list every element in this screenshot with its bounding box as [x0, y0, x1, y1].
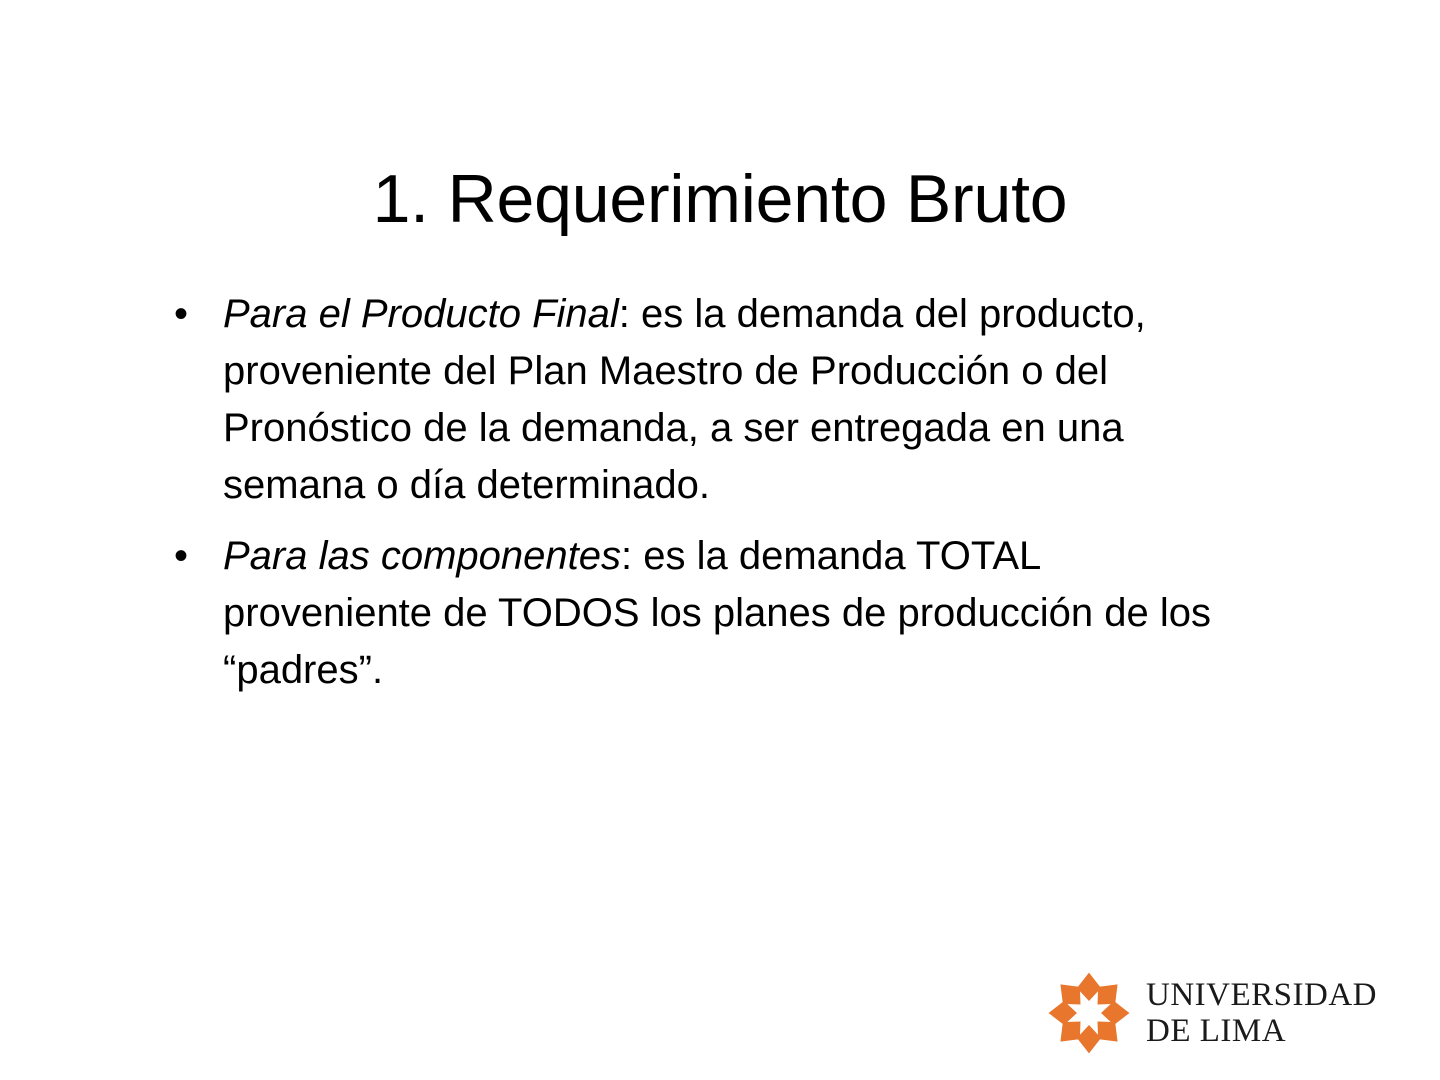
bullet-list: • Para el Producto Final: es la demanda …	[160, 286, 1250, 699]
page-title: 1. Requerimiento Bruto	[0, 164, 1440, 235]
slide-canvas: 1. Requerimiento Bruto • Para el Product…	[0, 0, 1440, 1080]
bullet-marker-icon: •	[174, 286, 202, 343]
list-item-text: Para el Producto Final: es la demanda de…	[223, 286, 1250, 514]
list-item-emphasis: Para las componentes	[223, 534, 621, 578]
list-item-emphasis: Para el Producto Final	[223, 292, 619, 336]
star-rosette-icon	[1046, 970, 1132, 1056]
logo-wordmark: UNIVERSIDAD DE LIMA	[1146, 977, 1377, 1049]
logo-line-1: UNIVERSIDAD	[1146, 977, 1377, 1013]
list-item-text: Para las componentes: es la demanda TOTA…	[223, 528, 1250, 699]
universidad-de-lima-logo: UNIVERSIDAD DE LIMA	[1046, 970, 1396, 1056]
list-item: • Para las componentes: es la demanda TO…	[160, 528, 1250, 699]
bullet-marker-icon: •	[174, 528, 202, 585]
logo-line-2: DE LIMA	[1146, 1013, 1377, 1049]
list-item: • Para el Producto Final: es la demanda …	[160, 286, 1250, 514]
